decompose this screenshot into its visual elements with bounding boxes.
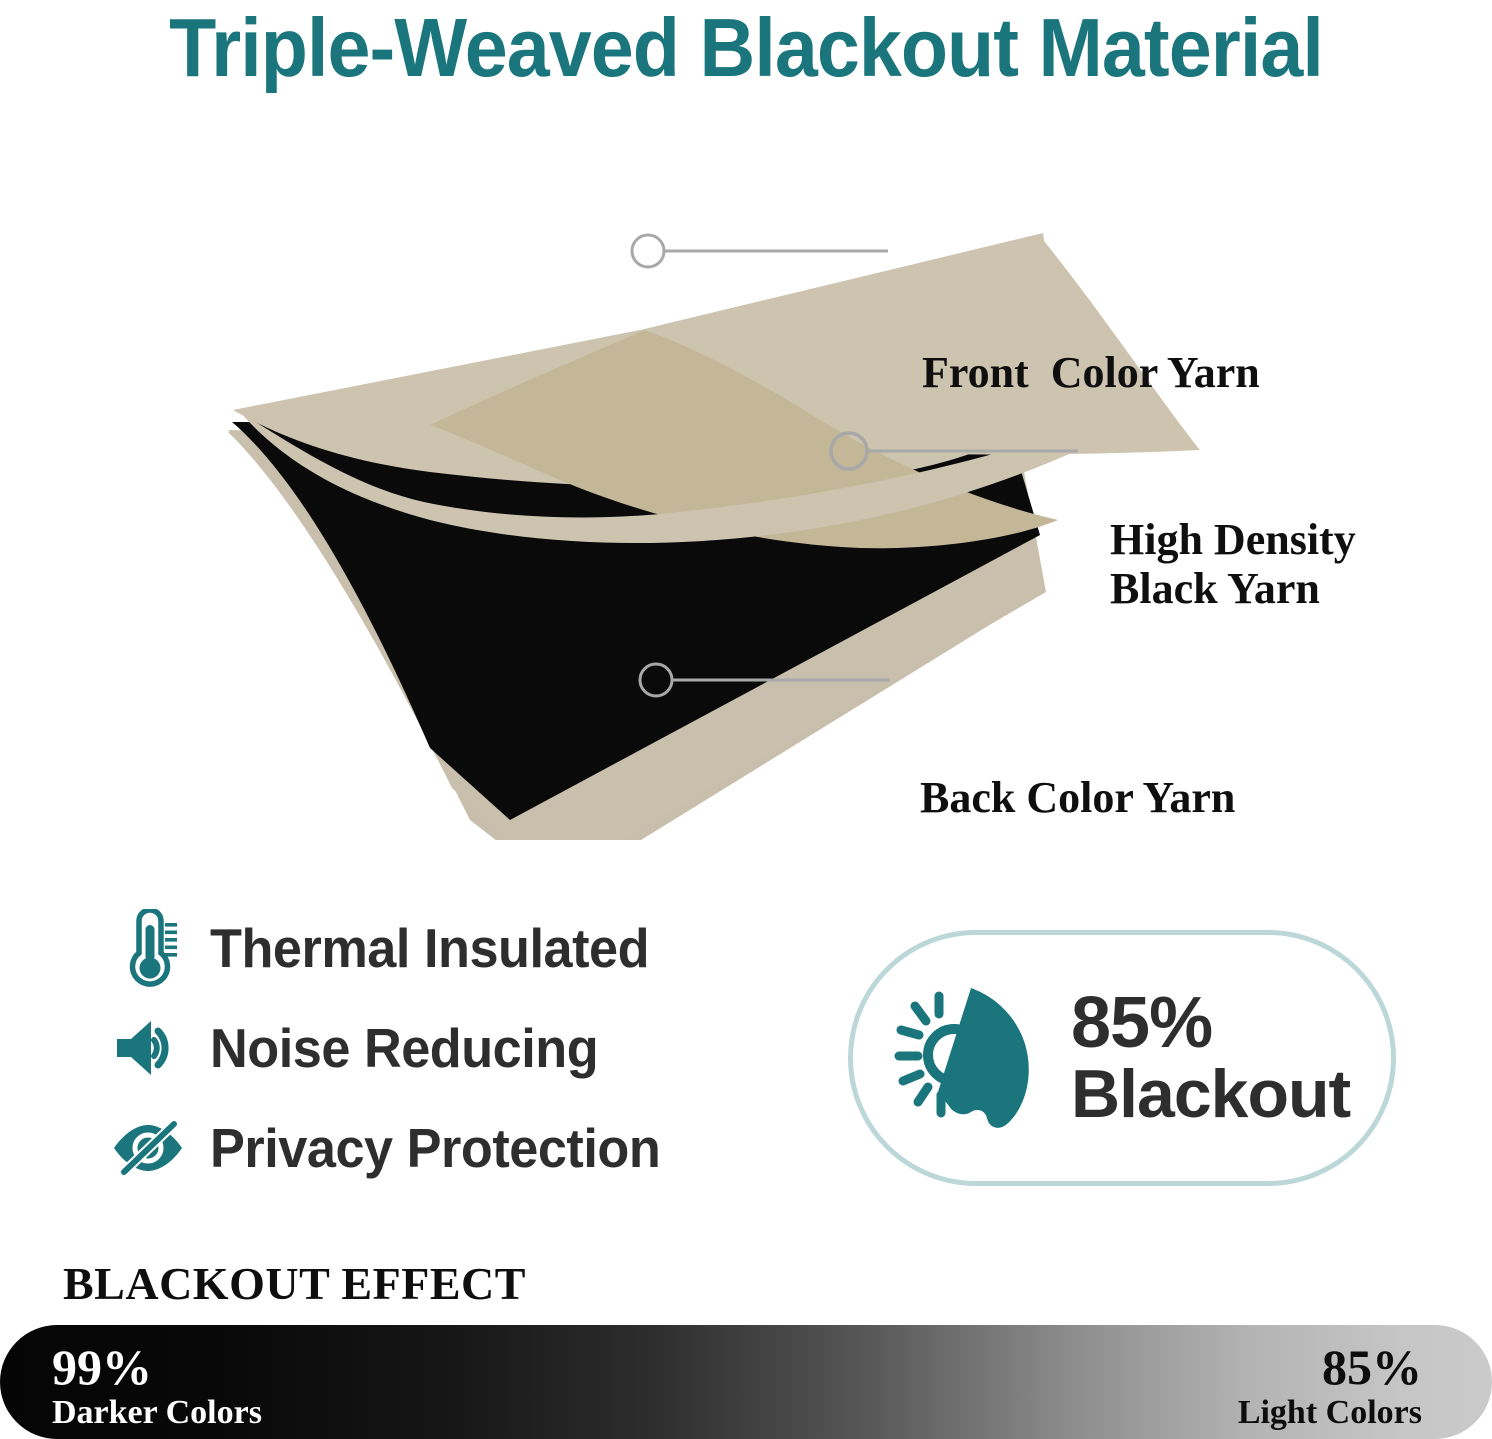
page-title: Triple-Weaved Blackout Material (52, 0, 1440, 96)
sun-blocked-by-curtain-icon (871, 982, 1061, 1134)
gradient-bar-left-percent: 99% (52, 1342, 262, 1392)
layer-label-line-2: Black Yarn (1110, 564, 1320, 613)
feature-list: Thermal Insulated Noise Reducing (108, 898, 808, 1198)
badge-percent: 85% (1071, 987, 1212, 1060)
layer-label-line-1: High Density (1110, 515, 1356, 564)
eye-slash-icon (108, 1117, 188, 1179)
feature-item-privacy-protection: Privacy Protection (108, 1098, 808, 1198)
blackout-effect-gradient-bar: 99% Darker Colors 85% Light Colors (0, 1325, 1492, 1439)
blackout-effect-heading: BLACKOUT EFFECT (63, 1257, 526, 1310)
feature-label-noise-reducing: Noise Reducing (210, 1016, 598, 1080)
gradient-bar-left-stat: 99% Darker Colors (52, 1342, 262, 1430)
badge-text-block: 85% Blackout (1071, 987, 1350, 1130)
speaker-sound-icon (108, 1017, 188, 1079)
layer-label-back-color-yarn: Back Color Yarn (920, 773, 1235, 822)
thermometer-icon (108, 909, 188, 987)
layer-label-high-density-black-yarn: High DensityBlack Yarn (1110, 515, 1356, 614)
gradient-bar-right-percent: 85% (1238, 1342, 1422, 1392)
infographic-page: Triple-Weaved Blackout Material (0, 0, 1492, 1439)
badge-word: Blackout (1071, 1060, 1350, 1129)
feature-item-noise-reducing: Noise Reducing (108, 998, 808, 1098)
feature-label-thermal-insulated: Thermal Insulated (210, 916, 649, 980)
gradient-bar-right-stat: 85% Light Colors (1238, 1342, 1422, 1430)
blackout-percentage-badge: 85% Blackout (848, 930, 1396, 1186)
feature-label-privacy-protection: Privacy Protection (210, 1116, 660, 1180)
layer-label-front-color-yarn: Front Color Yarn (922, 348, 1260, 397)
fabric-layer-diagram: Front Color Yarn High DensityBlack Yarn … (0, 120, 1492, 840)
gradient-bar-left-sublabel: Darker Colors (52, 1396, 262, 1430)
gradient-bar-right-sublabel: Light Colors (1238, 1396, 1422, 1430)
leader-line-front (632, 235, 888, 267)
feature-item-thermal-insulated: Thermal Insulated (108, 898, 808, 998)
